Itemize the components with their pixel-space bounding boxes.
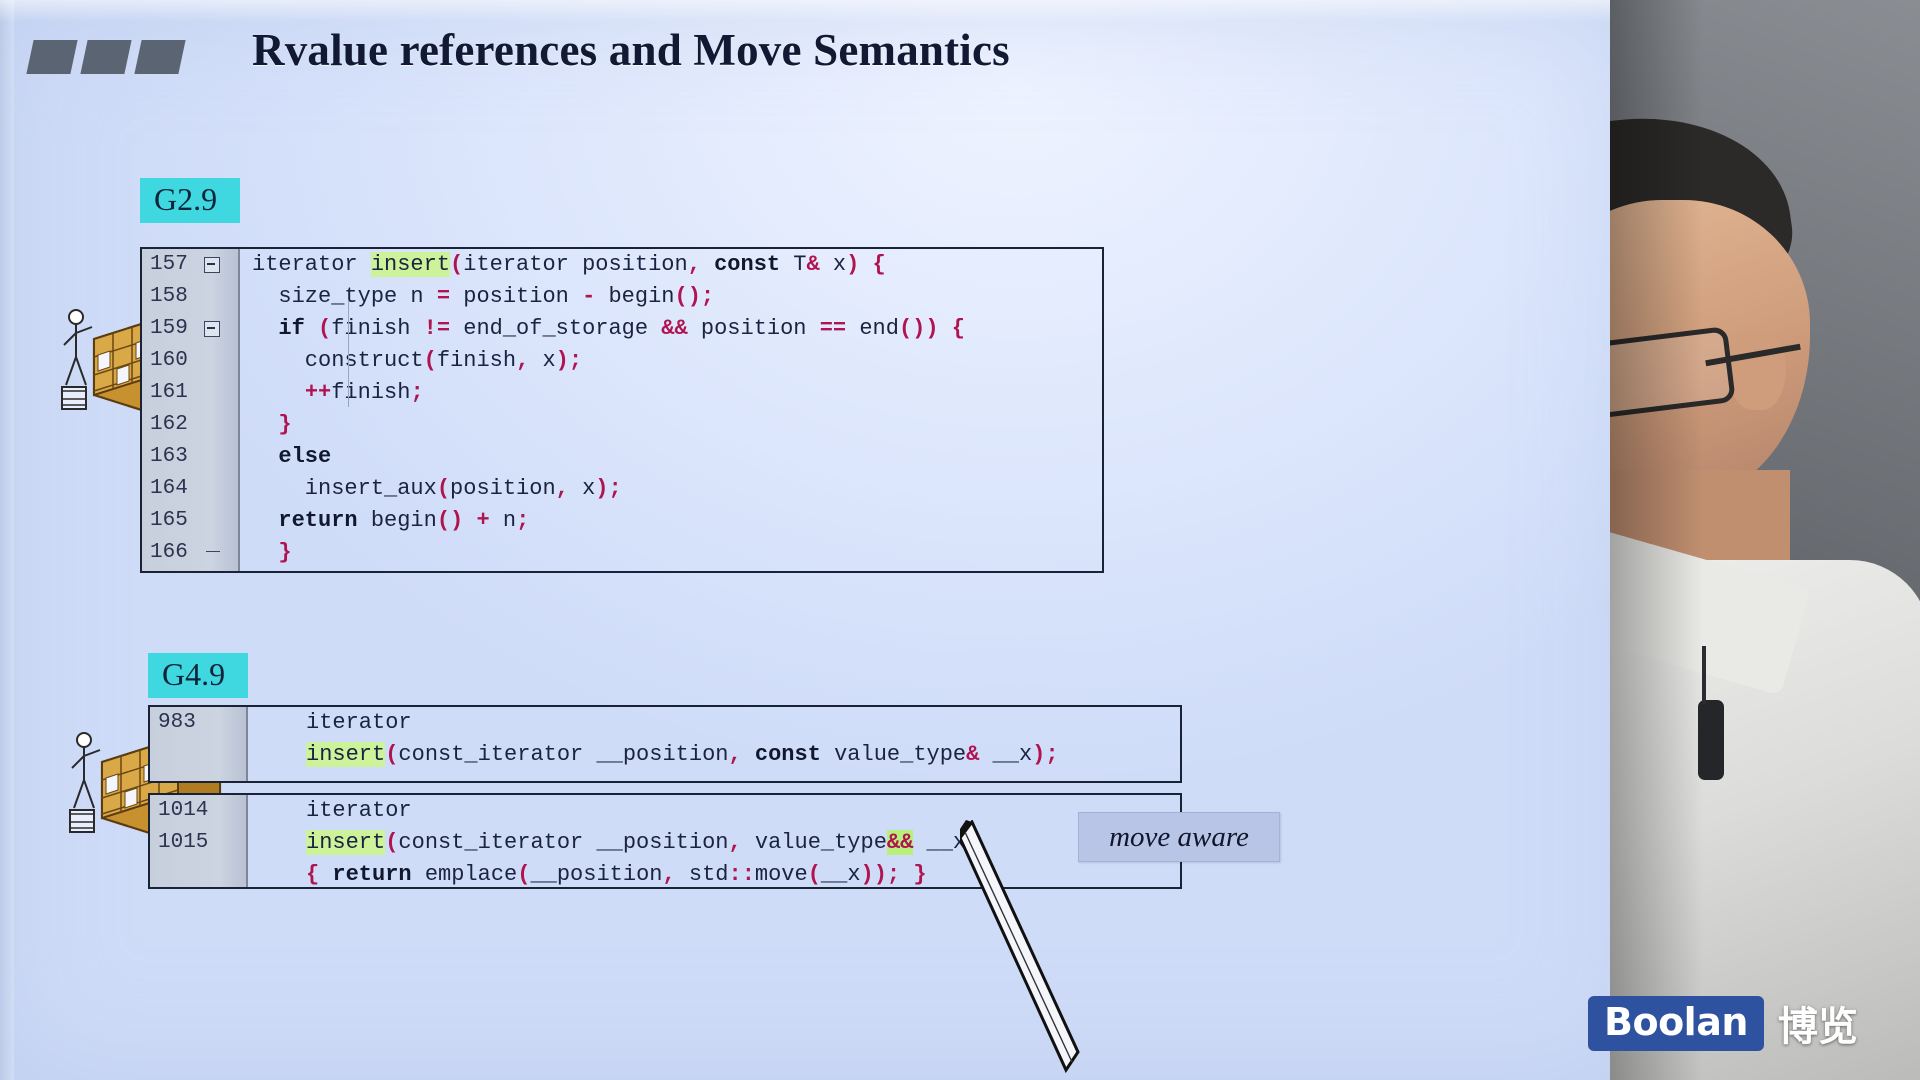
code-line: construct(finish, x); — [238, 345, 1102, 377]
boolan-logo-cn: 博览 — [1778, 994, 1858, 1052]
code-line: iterator insert(iterator position, const… — [238, 249, 1102, 281]
code-line: size_type n = position - begin(); — [238, 281, 1102, 313]
line-number: 1015 — [150, 827, 246, 859]
line-number: 983 — [150, 707, 246, 739]
code-line: } — [238, 537, 1102, 569]
line-number-gutter-1: 157 158 159 160 161 162 163 164 165 166 — [142, 249, 240, 571]
line-number: 162 — [142, 409, 238, 441]
code-text-area-1: iterator insert(iterator position, const… — [238, 249, 1102, 571]
code-line: else — [238, 441, 1102, 473]
projected-slide: Rvalue references and Move Semantics G2.… — [0, 0, 1640, 1080]
code-text-area-2: iterator insert(const_iterator __positio… — [246, 707, 1180, 781]
code-text-area-3: iterator insert(const_iterator __positio… — [246, 795, 1180, 887]
line-number — [150, 739, 246, 771]
line-number: 157 — [142, 249, 238, 281]
code-block-g29: 157 158 159 160 161 162 163 164 165 166 … — [140, 247, 1104, 573]
line-number-gutter-3: 1014 1015 — [150, 795, 248, 887]
code-block-g49-copy-insert: 983 iterator insert(const_iterator __pos… — [148, 705, 1182, 783]
code-block-g49-move-insert: 1014 1015 iterator insert(const_iterator… — [148, 793, 1182, 889]
title-bullets-icon — [30, 40, 182, 74]
indent-guide — [348, 301, 349, 407]
code-line: if (finish != end_of_storage && position… — [238, 313, 1102, 345]
line-number: 161 — [142, 377, 238, 409]
code-line: insert(const_iterator __position, value_… — [246, 827, 1180, 859]
code-line: ++finish; — [238, 377, 1102, 409]
line-number: 165 — [142, 505, 238, 537]
screenshot-stage: Rvalue references and Move Semantics G2.… — [0, 0, 1920, 1080]
code-line: iterator — [246, 795, 1180, 827]
line-number-gutter-2: 983 — [150, 707, 248, 781]
presenter-video — [1610, 0, 1920, 1080]
line-number: 166 — [142, 537, 238, 569]
move-aware-callout: move aware — [1078, 812, 1280, 862]
code-line: insert_aux(position, x); — [238, 473, 1102, 505]
slide-title-row: Rvalue references and Move Semantics — [0, 26, 1200, 88]
code-line: iterator — [246, 707, 1180, 739]
version-tag-g49: G4.9 — [148, 653, 248, 698]
code-line: { return emplace(__position, std::move(_… — [246, 859, 1180, 891]
code-line: return begin() + n; — [238, 505, 1102, 537]
line-number: 159 — [142, 313, 238, 345]
line-number: 1014 — [150, 795, 246, 827]
code-line: insert(const_iterator __position, const … — [246, 739, 1180, 771]
line-number: 164 — [142, 473, 238, 505]
page-title: Rvalue references and Move Semantics — [252, 24, 1010, 76]
boolan-logo-mark: Boolan — [1588, 996, 1764, 1051]
version-tag-g29: G2.9 — [140, 178, 240, 223]
code-line: } — [238, 409, 1102, 441]
line-number: 160 — [142, 345, 238, 377]
line-number: 163 — [142, 441, 238, 473]
boolan-logo: Boolan 博览 — [1588, 994, 1858, 1052]
line-number: 158 — [142, 281, 238, 313]
